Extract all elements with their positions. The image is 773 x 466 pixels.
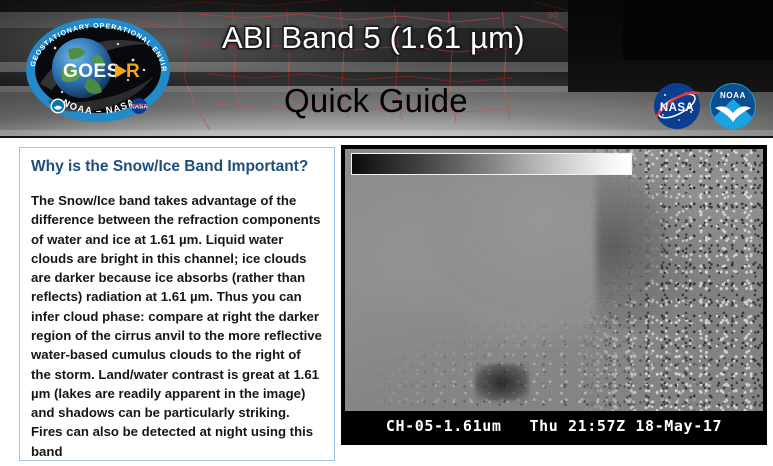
- page-subtitle: Quick Guide: [284, 82, 468, 120]
- image-noise-overlay: [345, 149, 763, 411]
- grayscale-colorbar: [351, 153, 632, 175]
- header-banner: 60 50 40: [0, 0, 773, 138]
- caption-channel: CH-05-1.61um: [386, 417, 502, 435]
- nasa-logo-icon: NASA: [653, 82, 701, 130]
- satellite-image-caption: CH-05-1.61um Thu 21:57Z 18-May-17: [345, 411, 763, 441]
- info-panel: Why is the Snow/Ice Band Important? The …: [19, 147, 335, 461]
- info-panel-heading: Why is the Snow/Ice Band Important?: [31, 157, 323, 177]
- caption-timestamp: Thu 21:57Z 18-May-17: [529, 417, 722, 435]
- goes-r-logo: GOES R GEOSTATIONARY OPERATIONAL ENVIRON…: [18, 14, 178, 126]
- page-title: ABI Band 5 (1.61 µm): [222, 20, 525, 56]
- noaa-logo-icon: NOAA: [709, 82, 757, 130]
- satellite-image: [345, 149, 763, 411]
- satellite-image-panel: CH-05-1.61um Thu 21:57Z 18-May-17: [341, 145, 767, 445]
- svg-text:GOES: GOES: [63, 61, 120, 82]
- svg-text:NASA: NASA: [660, 102, 694, 114]
- info-panel-body: The Snow/Ice band takes advantage of the…: [31, 191, 323, 461]
- svg-text:NOAA: NOAA: [720, 91, 746, 100]
- svg-text:60: 60: [548, 10, 558, 20]
- header-dark-region: [623, 0, 773, 60]
- svg-text:R: R: [126, 61, 140, 82]
- header-bottom-rule: [0, 136, 773, 138]
